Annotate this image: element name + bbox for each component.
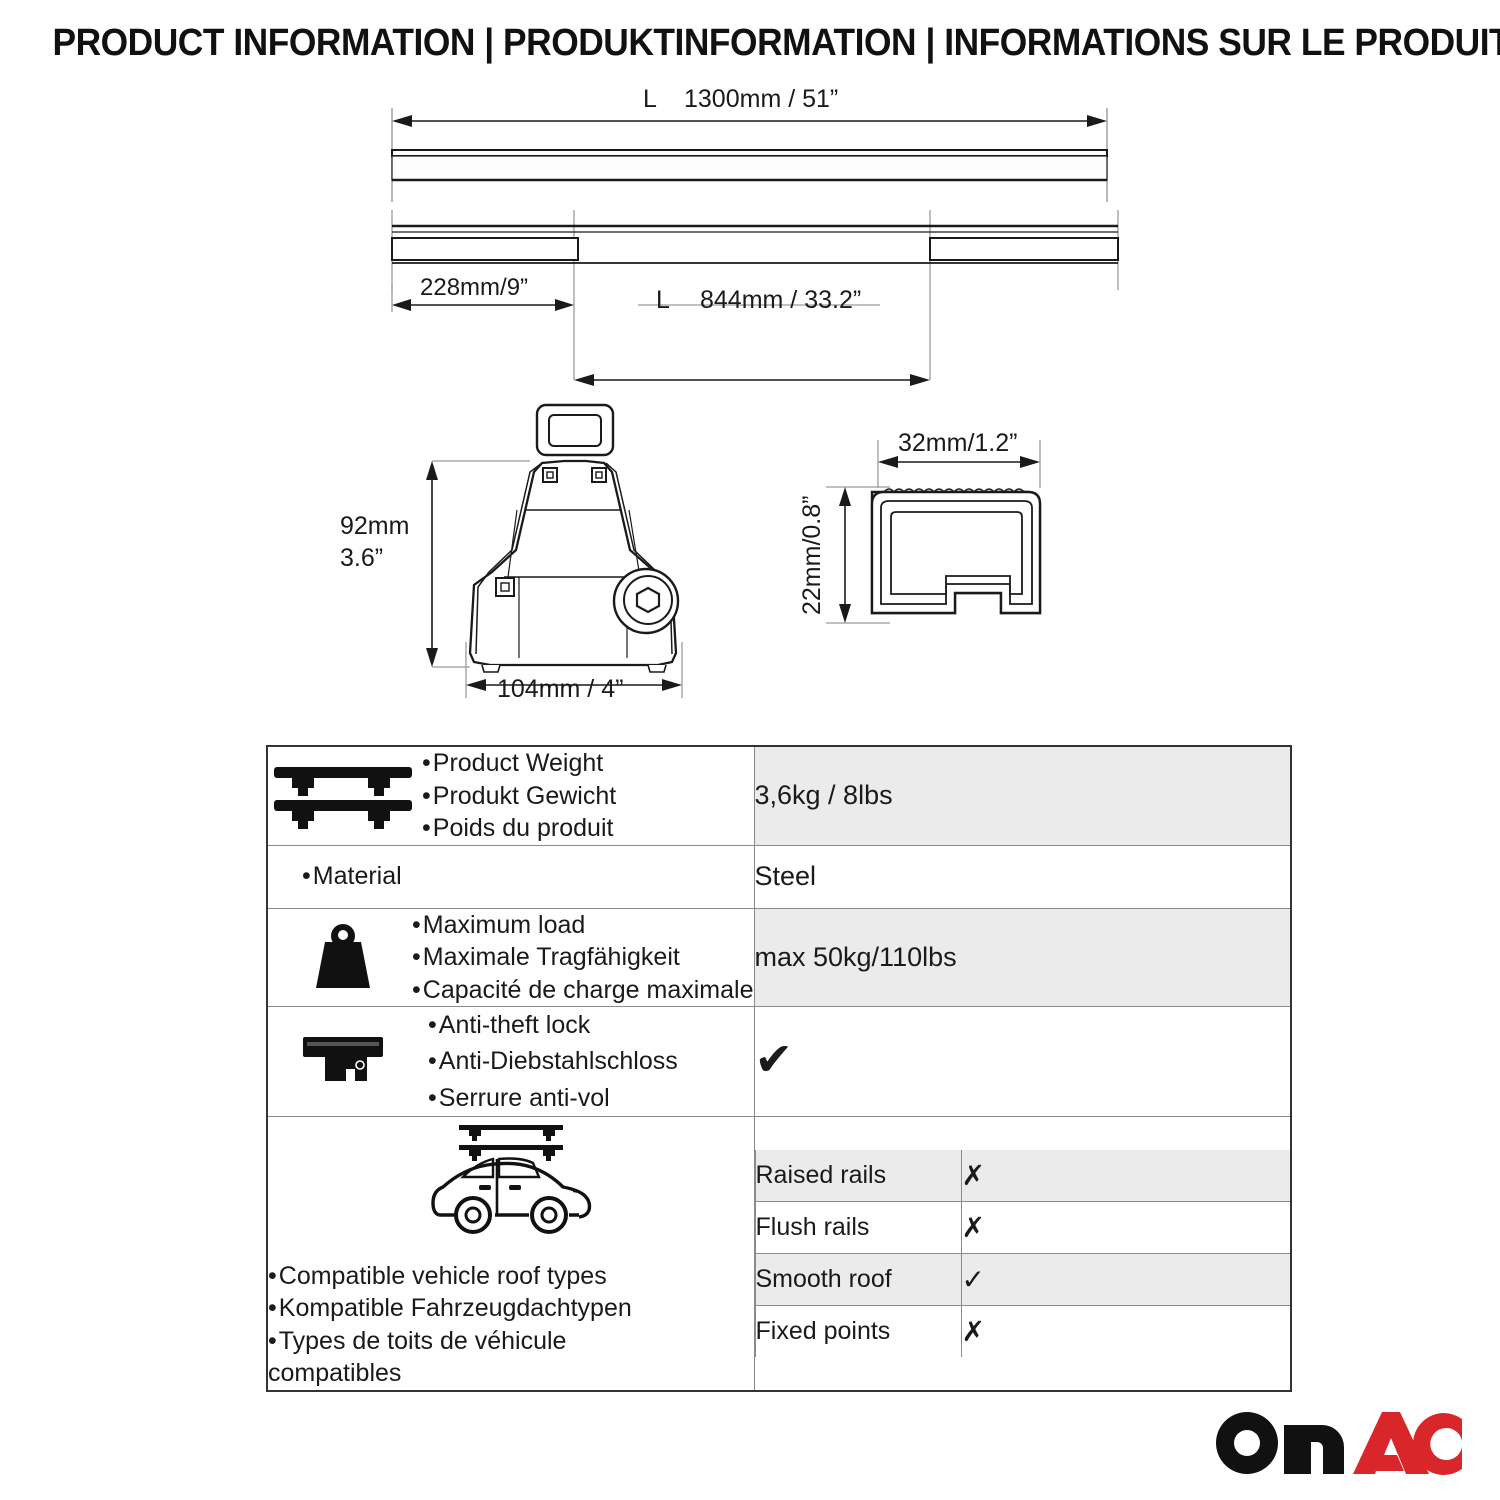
label-line: Product Weight xyxy=(422,747,616,780)
tower-height-mm: 92mm xyxy=(340,512,409,540)
roof-type-name: Flush rails xyxy=(755,1201,961,1253)
tower-height-in: 3.6” xyxy=(340,544,383,572)
material-label-cell: Material xyxy=(267,845,754,908)
max-load-value: max 50kg/110lbs xyxy=(754,908,1291,1007)
spread-l-label: L xyxy=(656,286,670,314)
logo-letter-o xyxy=(1216,1412,1278,1474)
label-line: Anti-theft lock xyxy=(428,1007,678,1043)
table-row: Maximum load Maximale Tragfähigkeit Capa… xyxy=(267,908,1291,1007)
product-info-sheet: PRODUCT INFORMATION | PRODUKTINFORMATION… xyxy=(0,0,1500,1500)
label-line: Serrure anti-vol xyxy=(428,1080,678,1116)
label-line: Produkt Gewicht xyxy=(422,780,616,813)
compat-label-cell: Compatible vehicle roof types Kompatible… xyxy=(267,1116,754,1391)
weight-icon xyxy=(268,920,418,994)
table-row: Product Weight Produkt Gewicht Poids du … xyxy=(267,746,1291,845)
roof-type-mark: ✗ xyxy=(961,1305,1290,1357)
technical-drawing: L 1300mm / 51” 228mm/9” L 844mm / 33.2” … xyxy=(0,80,1500,740)
bar-length-l-label: L xyxy=(643,85,657,113)
page-title: PRODUCT INFORMATION | PRODUKTINFORMATION… xyxy=(53,22,1448,65)
cross-icon: ✗ xyxy=(962,1212,985,1243)
material-value: Steel xyxy=(754,845,1291,908)
logo-letter-m xyxy=(1284,1425,1344,1474)
roof-types-table: Raised rails ✗ Flush rails ✗ Smooth roof… xyxy=(755,1150,1291,1357)
roof-type-name: Smooth roof xyxy=(755,1253,961,1305)
foot-offset-dim: 228mm/9” xyxy=(420,274,528,301)
table-row: Anti-theft lock Anti-Diebstahlschloss Se… xyxy=(267,1007,1291,1117)
label-line: Poids du produit xyxy=(422,812,616,845)
profile-width-dim: 32mm/1.2” xyxy=(898,429,1017,457)
anti-theft-value: ✔ xyxy=(754,1007,1291,1117)
lock-icon xyxy=(268,1031,418,1091)
max-load-label-cell: Maximum load Maximale Tragfähigkeit Capa… xyxy=(267,908,754,1007)
product-weight-label-cell: Product Weight Produkt Gewicht Poids du … xyxy=(267,746,754,845)
roof-type-row: Smooth roof ✓ xyxy=(755,1253,1290,1305)
product-weight-labels: Product Weight Produkt Gewicht Poids du … xyxy=(422,747,616,845)
compat-labels: Compatible vehicle roof types Kompatible… xyxy=(268,1260,688,1390)
spec-table: Product Weight Produkt Gewicht Poids du … xyxy=(266,745,1292,1392)
roof-type-mark: ✓ xyxy=(961,1253,1290,1305)
label-line: Compatible vehicle roof types xyxy=(268,1260,688,1293)
car-with-roof-rack-icon xyxy=(423,1117,599,1250)
check-icon: ✓ xyxy=(962,1264,985,1295)
roof-type-row: Fixed points ✗ xyxy=(755,1305,1290,1357)
label-line: Anti-Diebstahlschloss xyxy=(428,1043,678,1079)
roof-type-row: Flush rails ✗ xyxy=(755,1201,1290,1253)
roof-types-cell: Raised rails ✗ Flush rails ✗ Smooth roof… xyxy=(754,1116,1291,1391)
product-weight-value: 3,6kg / 8lbs xyxy=(754,746,1291,845)
tower-width-dim: 104mm / 4” xyxy=(497,675,623,703)
table-row: Compatible vehicle roof types Kompatible… xyxy=(267,1116,1291,1391)
label-line: Maximum load xyxy=(412,909,754,942)
roof-bars-icon xyxy=(268,763,418,829)
roof-type-mark: ✗ xyxy=(961,1150,1290,1202)
spread-dim: 844mm / 33.2” xyxy=(700,286,861,314)
max-load-labels: Maximum load Maximale Tragfähigkeit Capa… xyxy=(412,909,754,1007)
label-line: Capacité de charge maximale xyxy=(412,974,754,1007)
label-line: Kompatible Fahrzeugdachtypen xyxy=(268,1292,688,1325)
material-labels: Material xyxy=(268,860,402,893)
omac-logo xyxy=(1214,1408,1464,1478)
anti-theft-labels: Anti-theft lock Anti-Diebstahlschloss Se… xyxy=(428,1007,678,1116)
table-row: Material Steel xyxy=(267,845,1291,908)
roof-type-name: Raised rails xyxy=(755,1150,961,1202)
roof-type-mark: ✗ xyxy=(961,1201,1290,1253)
label-line: Types de toits de véhicule compatibles xyxy=(268,1325,688,1390)
roof-type-name: Fixed points xyxy=(755,1305,961,1357)
cross-icon: ✗ xyxy=(962,1160,985,1191)
roof-type-row: Raised rails ✗ xyxy=(755,1150,1290,1202)
label-line: Material xyxy=(302,860,402,893)
profile-height-dim: 22mm/0.8” xyxy=(798,496,826,615)
anti-theft-label-cell: Anti-theft lock Anti-Diebstahlschloss Se… xyxy=(267,1007,754,1117)
checkmark-icon: ✔ xyxy=(755,1033,794,1085)
cross-icon: ✗ xyxy=(962,1316,985,1347)
label-line: Maximale Tragfähigkeit xyxy=(412,941,754,974)
bar-length-dim: 1300mm / 51” xyxy=(684,85,838,113)
